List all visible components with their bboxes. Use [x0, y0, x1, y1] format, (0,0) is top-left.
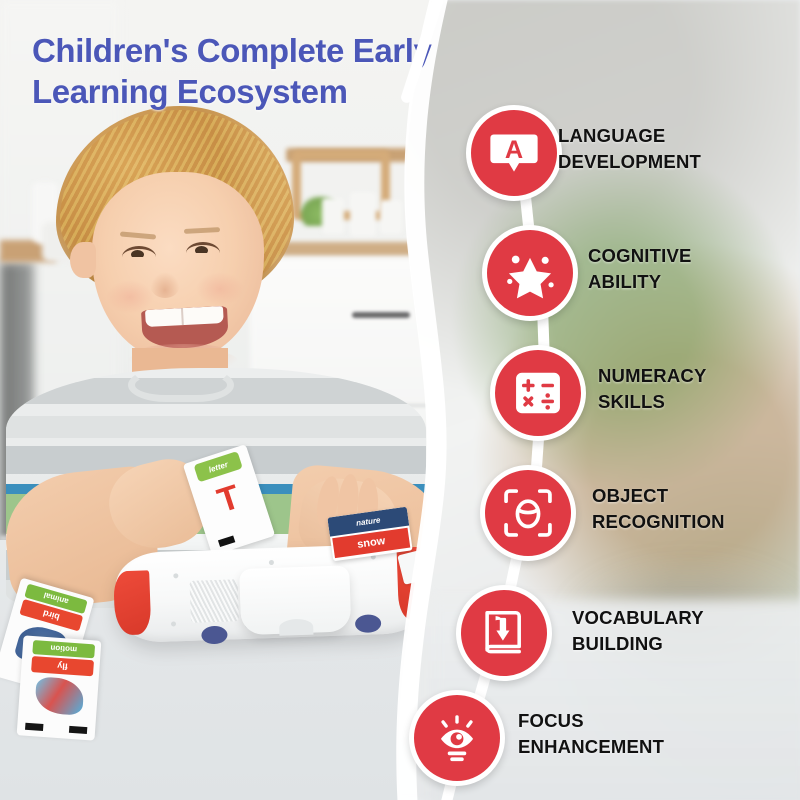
calculator-math-icon — [511, 366, 565, 420]
flashcard-word: fly — [31, 656, 94, 676]
nose — [150, 272, 180, 298]
feature-label: VOCABULARY BUILDING — [572, 605, 704, 658]
ear — [70, 242, 96, 278]
cheek — [106, 280, 154, 314]
infographic-canvas: letter T nature snow — [0, 0, 800, 800]
feature-label: OBJECT RECOGNITION — [592, 483, 725, 536]
flashcard-fly: fly motion — [17, 635, 102, 740]
feature-label: LANGUAGE DEVELOPMENT — [558, 123, 701, 176]
shirt-collar — [128, 368, 234, 402]
device-red-cap-left — [113, 570, 151, 635]
flashcard-barcode — [218, 535, 235, 547]
teeth — [145, 306, 224, 327]
title-line-2: Learning Ecosystem — [32, 71, 552, 112]
svg-text:A: A — [505, 136, 523, 164]
feature-label: NUMERACY SKILLS — [598, 363, 707, 416]
device-foot — [355, 614, 382, 633]
flashcard-illustration — [34, 676, 84, 715]
numeracy-skills-icon-badge[interactable] — [490, 345, 586, 441]
object-recognition-icon-badge[interactable] — [480, 465, 576, 561]
flashcard-reader-device — [115, 543, 430, 644]
title-line-1: Children's Complete Early — [32, 30, 552, 71]
scan-frame-object-icon — [501, 486, 555, 540]
device-card-stand — [239, 565, 351, 635]
star-sparkle-icon — [503, 246, 557, 300]
cognitive-ability-icon-badge[interactable] — [482, 225, 578, 321]
flashcard-category-tag: motion — [32, 640, 95, 658]
vocabulary-building-icon-badge[interactable] — [456, 585, 552, 681]
cheek — [196, 272, 244, 306]
language-development-icon-badge[interactable]: A — [466, 105, 562, 201]
eye-focus-icon — [430, 711, 484, 765]
book-download-arrow-icon — [477, 606, 531, 660]
speech-bubble-letter-a-icon: A — [487, 126, 541, 180]
focus-enhancement-icon-badge[interactable] — [409, 690, 505, 786]
feature-label: COGNITIVE ABILITY — [588, 243, 692, 296]
page-title: Children's Complete Early Learning Ecosy… — [32, 30, 552, 113]
eye — [122, 246, 156, 257]
feature-label: FOCUS ENHANCEMENT — [518, 708, 664, 761]
eye — [186, 242, 220, 253]
device-speaker-grille — [190, 579, 239, 623]
